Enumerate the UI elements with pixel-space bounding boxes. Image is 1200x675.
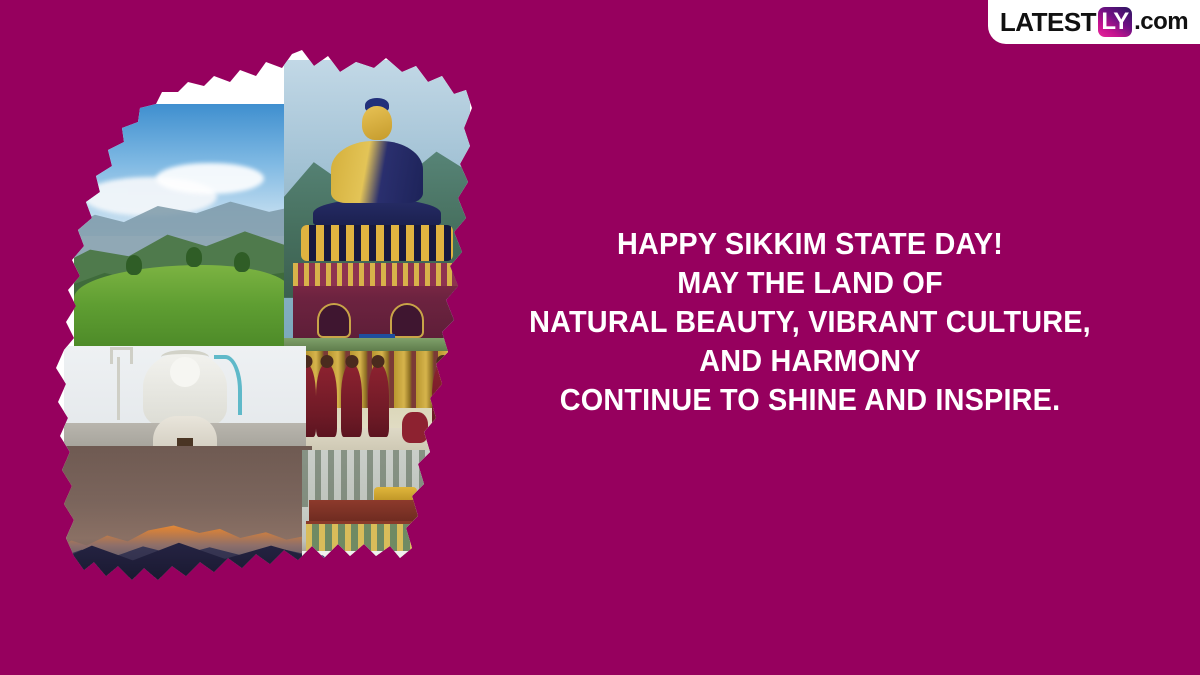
logo-text-latest: LATEST xyxy=(1000,9,1096,35)
medallion-icon xyxy=(423,555,434,566)
child-figure xyxy=(402,412,428,443)
medallion-icon xyxy=(351,555,362,566)
message-line-5: CONTINUE TO SHINE AND INSPIRE. xyxy=(485,380,1136,419)
tea-meadow xyxy=(74,265,290,348)
plinth-niche xyxy=(390,303,424,338)
bush-shape xyxy=(126,255,142,275)
photo-tea-garden xyxy=(74,104,290,348)
trishul-icon xyxy=(117,357,120,420)
greeting-message: HAPPY SIKKIM STATE DAY! MAY THE LAND OF … xyxy=(460,224,1160,419)
message-line-3: NATURAL BEAUTY, VIBRANT CULTURE, xyxy=(485,302,1136,341)
collage-clip-region xyxy=(56,46,476,646)
photo-rumtek-monastery xyxy=(302,450,482,618)
monk-figure xyxy=(341,364,362,437)
monk-figure xyxy=(432,364,453,437)
wet-courtyard-reflection xyxy=(302,591,482,618)
photo-monks-prayer-wheels xyxy=(284,338,474,456)
greeting-card: HAPPY SIKKIM STATE DAY! MAY THE LAND OF … xyxy=(0,0,1200,675)
plinth-frieze xyxy=(293,263,461,286)
bush-shape xyxy=(234,252,250,272)
buddha-torso xyxy=(331,141,423,203)
bush-shape xyxy=(186,247,202,267)
photo-kanchenjunga-sunrise xyxy=(56,446,312,606)
medallion-icon xyxy=(459,555,470,566)
logo-badge-ly: LY xyxy=(1098,7,1132,37)
monk-figure xyxy=(316,364,337,437)
monk-figure xyxy=(368,364,389,437)
message-line-1: HAPPY SIKKIM STATE DAY! xyxy=(485,224,1136,263)
roof-eave xyxy=(284,338,474,351)
decorative-medallion-band xyxy=(302,551,482,569)
cloud-shape xyxy=(156,163,264,195)
monastery-roof xyxy=(309,500,475,522)
message-line-4: AND HARMONY xyxy=(485,341,1136,380)
medallion-icon xyxy=(387,555,398,566)
photo-grid xyxy=(56,46,476,646)
shiva-face xyxy=(170,357,200,387)
lotus-pedestal xyxy=(301,225,453,261)
logo-text-dotcom: .com xyxy=(1134,10,1188,34)
medallion-icon xyxy=(315,555,326,566)
pillared-facade xyxy=(302,569,482,593)
dawn-sky xyxy=(56,446,312,606)
upper-gallery xyxy=(306,521,479,551)
latestly-logo[interactable]: LATEST LY .com xyxy=(988,0,1200,44)
plinth-niche xyxy=(317,303,351,338)
message-line-2: MAY THE LAND OF xyxy=(485,263,1136,302)
sikkim-map-photo-collage xyxy=(56,46,476,646)
statue-plinth xyxy=(293,263,461,350)
photo-buddha-park xyxy=(284,60,470,350)
buddha-head xyxy=(362,106,392,140)
